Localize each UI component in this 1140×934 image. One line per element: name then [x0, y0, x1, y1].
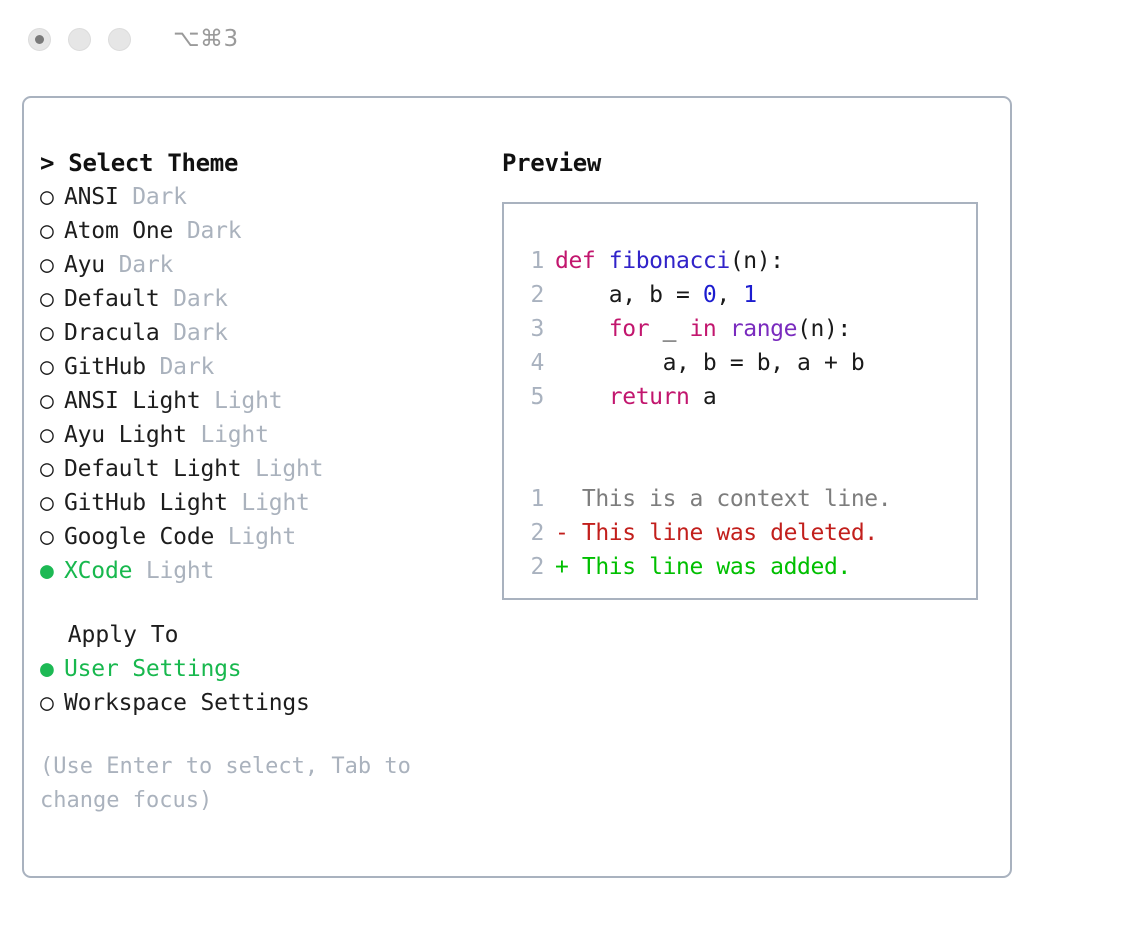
- apply-to-option-label: Workspace Settings: [64, 690, 310, 716]
- apply-to-heading: Apply To: [40, 618, 480, 652]
- theme-option-variant: Light: [241, 456, 323, 482]
- app-window: ⌥⌘3 > Select Theme ○ANSI Dark○Atom One D…: [0, 0, 1140, 934]
- code-spacer: [518, 414, 976, 448]
- diff-line-ctx: 1 This is a context line.: [518, 482, 976, 516]
- window-dot-inner-icon: [35, 35, 44, 44]
- spacer: [40, 588, 480, 618]
- theme-option-variant: Light: [228, 490, 310, 516]
- radio-icon: ○: [40, 384, 64, 418]
- theme-option-google-code[interactable]: ○Google Code Light: [40, 520, 480, 554]
- diff-sign: -: [555, 520, 582, 546]
- diff-text: This line was deleted.: [582, 520, 878, 546]
- theme-option-github[interactable]: ○GitHub Dark: [40, 350, 480, 384]
- diff-line-del: 2- This line was deleted.: [518, 516, 976, 550]
- code-token-plain: [555, 384, 609, 410]
- code-token-num: 0: [703, 282, 716, 308]
- code-token-plain: [716, 316, 729, 342]
- theme-option-label: ANSI Light: [64, 388, 200, 414]
- radio-icon: ○: [40, 214, 64, 248]
- code-token-plain: _: [649, 316, 689, 342]
- theme-option-ayu-light[interactable]: ○Ayu Light Light: [40, 418, 480, 452]
- theme-option-variant: Dark: [146, 354, 214, 380]
- theme-option-dracula[interactable]: ○Dracula Dark: [40, 316, 480, 350]
- diff-sign: [555, 486, 582, 512]
- code-line: 5 return a: [518, 380, 976, 414]
- theme-option-label: Default: [64, 286, 160, 312]
- theme-option-variant: Dark: [105, 252, 173, 278]
- line-number: 2: [518, 278, 544, 312]
- theme-option-variant: Dark: [160, 286, 228, 312]
- window-controls: [28, 28, 131, 51]
- theme-option-label: Google Code: [64, 524, 214, 550]
- radio-icon: ○: [40, 282, 64, 316]
- window-dot-maximize[interactable]: [108, 28, 131, 51]
- theme-option-variant: Light: [214, 524, 296, 550]
- code-sample: 1def fibonacci(n):2 a, b = 0, 13 for _ i…: [518, 244, 976, 414]
- theme-option-ansi-light[interactable]: ○ANSI Light Light: [40, 384, 480, 418]
- radio-icon: ○: [40, 248, 64, 282]
- apply-to-list: ●User Settings○Workspace Settings: [40, 652, 480, 720]
- window-dot-close[interactable]: [28, 28, 51, 51]
- code-token-plain: a, b = b, a + b: [555, 350, 864, 376]
- diff-sign: +: [555, 554, 582, 580]
- theme-option-ayu[interactable]: ○Ayu Dark: [40, 248, 480, 282]
- code-token-kw: in: [689, 316, 716, 342]
- code-line: 3 for _ in range(n):: [518, 312, 976, 346]
- code-token-kw: for: [609, 316, 649, 342]
- line-number: 4: [518, 346, 544, 380]
- theme-option-ansi[interactable]: ○ANSI Dark: [40, 180, 480, 214]
- theme-option-variant: Light: [132, 558, 214, 584]
- theme-option-atom-one[interactable]: ○Atom One Dark: [40, 214, 480, 248]
- theme-option-xcode[interactable]: ●XCode Light: [40, 554, 480, 588]
- code-token-plain: a: [689, 384, 716, 410]
- code-token-fn: fibonacci: [609, 248, 730, 274]
- radio-icon: ○: [40, 418, 64, 452]
- radio-icon: ○: [40, 520, 64, 554]
- apply-to-option-user-settings[interactable]: ●User Settings: [40, 652, 480, 686]
- code-line: 4 a, b = b, a + b: [518, 346, 976, 380]
- theme-option-label: Ayu Light: [64, 422, 187, 448]
- radio-icon: ○: [40, 180, 64, 214]
- radio-selected-icon: ●: [40, 554, 64, 588]
- window-dot-minimize[interactable]: [68, 28, 91, 51]
- diff-text: This line was added.: [582, 554, 851, 580]
- line-number: 3: [518, 312, 544, 346]
- line-number: 1: [518, 482, 544, 516]
- select-theme-heading: > Select Theme: [40, 146, 480, 180]
- line-number: 2: [518, 516, 544, 550]
- theme-option-github-light[interactable]: ○GitHub Light Light: [40, 486, 480, 520]
- line-number: 2: [518, 550, 544, 584]
- theme-list: ○ANSI Dark○Atom One Dark○Ayu Dark○Defaul…: [40, 180, 480, 588]
- theme-option-label: ANSI: [64, 184, 119, 210]
- code-token-plain: (n):: [730, 248, 784, 274]
- apply-to-option-label: User Settings: [64, 656, 241, 682]
- theme-option-variant: Dark: [119, 184, 187, 210]
- line-number: 5: [518, 380, 544, 414]
- radio-icon: ○: [40, 686, 64, 720]
- theme-option-variant: Dark: [160, 320, 228, 346]
- code-token-plain: [555, 316, 609, 342]
- diff-sample: 1 This is a context line.2- This line wa…: [518, 482, 976, 584]
- code-token-num: 1: [743, 282, 756, 308]
- code-line: 1def fibonacci(n):: [518, 244, 976, 278]
- theme-option-label: GitHub Light: [64, 490, 228, 516]
- theme-option-label: Atom One: [64, 218, 173, 244]
- radio-icon: ○: [40, 486, 64, 520]
- theme-option-variant: Light: [187, 422, 269, 448]
- theme-option-label: Default Light: [64, 456, 241, 482]
- code-line: 2 a, b = 0, 1: [518, 278, 976, 312]
- keyboard-hint-text: (Use Enter to select, Tab to change focu…: [40, 750, 460, 818]
- apply-to-option-workspace-settings[interactable]: ○Workspace Settings: [40, 686, 480, 720]
- preview-title: Preview: [502, 146, 992, 180]
- diff-text: This is a context line.: [582, 486, 891, 512]
- titlebar: ⌥⌘3: [0, 0, 1140, 78]
- code-token-kw: return: [609, 384, 690, 410]
- keyboard-shortcut-label: ⌥⌘3: [173, 26, 239, 52]
- theme-option-default-light[interactable]: ○Default Light Light: [40, 452, 480, 486]
- theme-picker-pane: > Select Theme ○ANSI Dark○Atom One Dark○…: [40, 146, 480, 818]
- code-spacer-2: [518, 448, 976, 482]
- preview-box: 1def fibonacci(n):2 a, b = 0, 13 for _ i…: [502, 202, 978, 600]
- radio-icon: ○: [40, 316, 64, 350]
- code-token-plain: a, b =: [555, 282, 703, 308]
- code-token-plain: (n):: [797, 316, 851, 342]
- theme-option-label: Ayu: [64, 252, 105, 278]
- code-token-call: range: [730, 316, 797, 342]
- theme-option-label: GitHub: [64, 354, 146, 380]
- line-number: 1: [518, 244, 544, 278]
- radio-icon: ○: [40, 452, 64, 486]
- theme-option-variant: Dark: [173, 218, 241, 244]
- code-token-kw: def: [555, 248, 609, 274]
- main-card: > Select Theme ○ANSI Dark○Atom One Dark○…: [22, 96, 1012, 878]
- radio-selected-icon: ●: [40, 652, 64, 686]
- code-token-plain: ,: [716, 282, 743, 308]
- theme-option-label: XCode: [64, 558, 132, 584]
- preview-pane: Preview 1def fibonacci(n):2 a, b = 0, 13…: [502, 146, 992, 600]
- theme-option-label: Dracula: [64, 320, 160, 346]
- radio-icon: ○: [40, 350, 64, 384]
- diff-line-add: 2+ This line was added.: [518, 550, 976, 584]
- theme-option-variant: Light: [200, 388, 282, 414]
- theme-option-default[interactable]: ○Default Dark: [40, 282, 480, 316]
